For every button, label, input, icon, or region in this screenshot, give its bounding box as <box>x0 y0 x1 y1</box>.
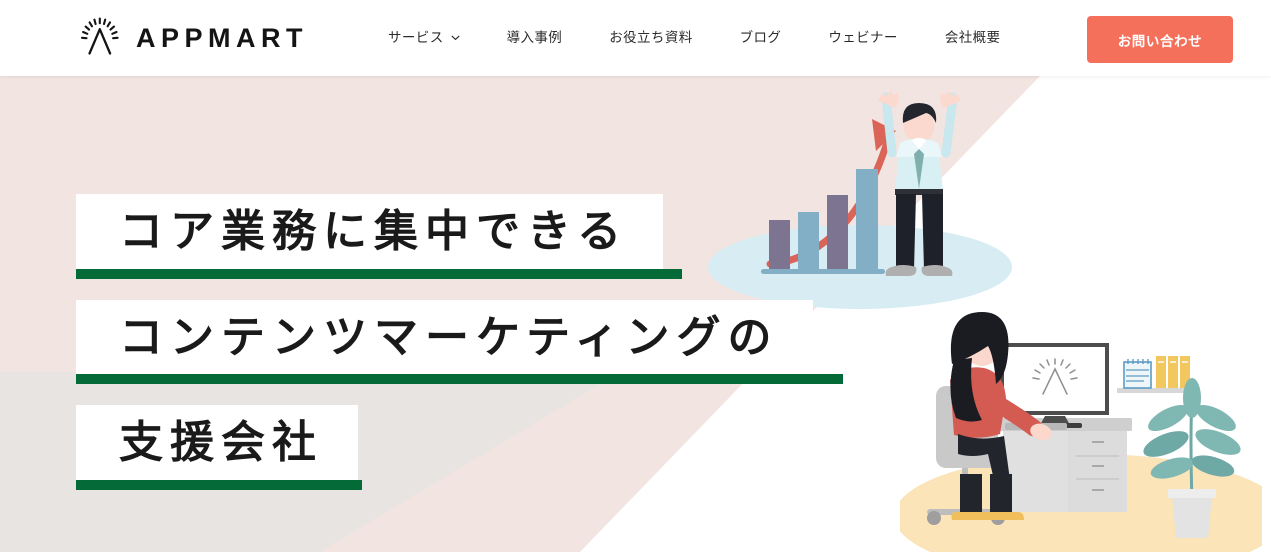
nav-item-company[interactable]: 会社概要 <box>945 31 1001 45</box>
nav-label-services: サービス <box>388 31 444 45</box>
headline-underline-1 <box>76 269 682 279</box>
nav-item-webinar[interactable]: ウェビナー <box>828 31 898 45</box>
nav-label-webinar: ウェビナー <box>828 31 898 45</box>
landing-page: APPMART サービス 導入事例 お役立ち資料 ブログ ウェビナー <box>0 0 1271 552</box>
nav-item-resources[interactable]: お役立ち資料 <box>609 31 692 45</box>
shelf-with-binders-icon <box>1117 356 1193 393</box>
nav-label-resources: お役立ち資料 <box>609 31 692 45</box>
nav-item-services[interactable]: サービス <box>388 31 460 45</box>
nav-label-blog: ブログ <box>740 31 782 45</box>
main-navigation: サービス 導入事例 お役立ち資料 ブログ ウェビナー 会社概要 <box>388 31 1000 45</box>
desk-icon <box>998 418 1132 512</box>
hero-section: コア業務に集中できる コンテンツマーケティングの 支援会社 <box>0 76 1271 552</box>
headline-row-3: 支援会社 <box>76 405 843 490</box>
contact-button[interactable]: お問い合わせ <box>1087 16 1233 63</box>
nav-label-company: 会社概要 <box>945 31 1001 45</box>
headline-box-1: コア業務に集中できる <box>76 194 663 269</box>
nav-item-blog[interactable]: ブログ <box>740 31 782 45</box>
illustration-woman-at-desk <box>900 306 1262 552</box>
headline-box-2: コンテンツマーケティングの <box>76 300 813 375</box>
headline-row-2: コンテンツマーケティングの <box>76 300 843 385</box>
headline-row-1: コア業務に集中できる <box>76 194 843 279</box>
brand-name-text: APPMART <box>136 25 308 52</box>
appmart-sparkle-logo-icon <box>78 16 122 60</box>
brand-logo[interactable]: APPMART <box>78 16 308 60</box>
headline-underline-2 <box>76 374 843 384</box>
hero-headline-group: コア業務に集中できる コンテンツマーケティングの 支援会社 <box>76 194 843 490</box>
nav-label-case-studies: 導入事例 <box>507 31 563 45</box>
chevron-down-icon <box>451 35 460 41</box>
headline-text-1: コア業務に集中できる <box>119 208 628 256</box>
headline-text-2: コンテンツマーケティングの <box>119 314 778 362</box>
site-header: APPMART サービス 導入事例 お役立ち資料 ブログ ウェビナー <box>0 0 1271 76</box>
headline-box-3: 支援会社 <box>76 405 358 480</box>
headline-underline-3 <box>76 480 362 490</box>
headline-text-3: 支援会社 <box>119 419 323 467</box>
nav-item-case-studies[interactable]: 導入事例 <box>507 31 563 45</box>
